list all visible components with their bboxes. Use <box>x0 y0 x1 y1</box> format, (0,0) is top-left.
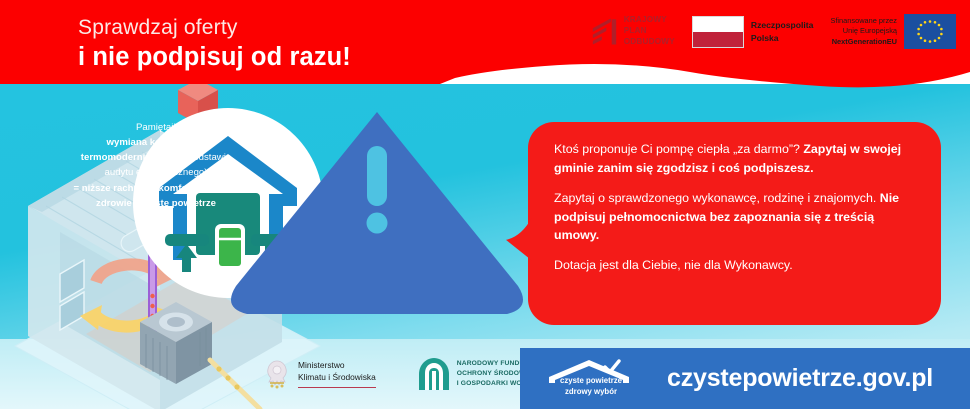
cp-logo-line-2: zdrowy wybór <box>545 387 637 398</box>
rp-line-1: Rzeczpospolita <box>751 19 814 31</box>
warning-speech-bubble: Ktoś proponuje Ci pompę ciepła „za darmo… <box>528 122 941 325</box>
bubble-p3-normal: Dotacja jest dla Ciebie, nie dla Wykonaw… <box>554 258 793 272</box>
triangle-line-1: Pamiętaj! <box>45 120 267 135</box>
nfosigw-mark-icon <box>418 357 450 391</box>
eu-stars-icon <box>904 14 956 49</box>
kpo-label: KRAJOWY PLAN ODBUDOWY <box>624 15 675 47</box>
rp-line-2: Polska <box>751 32 814 44</box>
kpo-line-1: KRAJOWY <box>624 15 675 26</box>
bubble-p1-normal: Ktoś proponuje Ci pompę ciepła „za darmo… <box>554 142 803 156</box>
logo-krajowy-plan-odbudowy: KRAJOWY PLAN ODBUDOWY <box>591 15 675 47</box>
eu-line-1: Sfinansowane przez <box>830 16 897 27</box>
bubble-paragraph-3: Dotacja jest dla Ciebie, nie dla Wykonaw… <box>554 256 914 275</box>
website-bar: czyste powietrze zdrowy wybór czystepowi… <box>520 348 970 409</box>
eu-line-2: Unię Europejską <box>830 26 897 37</box>
triangle-line-5: = niższe rachunki, komfortowy dom, <box>74 183 239 194</box>
eu-line-3: NextGenerationEU <box>830 37 897 48</box>
mkis-line-2: Klimatu i Środowiska <box>298 372 376 384</box>
bubble-tail <box>506 216 532 262</box>
kpo-line-2: PLAN <box>624 26 675 37</box>
triangle-message: Pamiętaj! wymiana kopciucha + termomoder… <box>45 120 267 211</box>
kpo-line-3: ODBUDOWY <box>624 37 675 48</box>
header-line-1: Sprawdzaj oferty <box>78 16 351 40</box>
mkis-line-1: Ministerstwo <box>298 360 376 372</box>
exclamation-mark-icon <box>367 146 388 234</box>
triangle-line-6: zdrowie i czyste powietrze <box>96 198 216 209</box>
triangle-line-4: audytu energetycznego) <box>105 167 208 178</box>
header-headline: Sprawdzaj oferty i nie podpisuj od razu! <box>78 16 351 71</box>
eu-flag-icon <box>904 14 956 49</box>
rp-label: Rzeczpospolita Polska <box>751 19 814 43</box>
top-logo-strip: KRAJOWY PLAN ODBUDOWY Rzeczpospolita Pol… <box>591 14 956 49</box>
mkis-label: Ministerstwo Klimatu i Środowiska <box>298 360 376 388</box>
bottom-logo-strip: Ministerstwo Klimatu i Środowiska NARODO… <box>262 357 542 391</box>
triangle-line-3-bold: termomodernizacja <box>81 152 169 163</box>
warning-triangle <box>222 110 532 335</box>
bubble-p2-normal: Zapytaj o sprawdzonego wykonawcę, rodzin… <box>554 191 880 205</box>
triangle-line-3-normal: (na podstawie <box>169 152 231 163</box>
triangle-line-2: wymiana kopciucha + <box>107 137 206 148</box>
polish-eagle-crest-icon <box>262 358 292 390</box>
czyste-powietrze-logo-text: czyste powietrze zdrowy wybór <box>545 376 637 397</box>
logo-european-union: Sfinansowane przez Unię Europejską NextG… <box>830 14 956 49</box>
bubble-paragraph-1: Ktoś proponuje Ci pompę ciepła „za darmo… <box>554 140 914 178</box>
bubble-paragraph-2: Zapytaj o sprawdzonego wykonawcę, rodzin… <box>554 189 914 246</box>
polish-flag-icon <box>692 16 744 48</box>
header-line-2: i nie podpisuj od razu! <box>78 43 351 72</box>
eu-label: Sfinansowane przez Unię Europejską NextG… <box>830 16 897 48</box>
logo-rzeczpospolita-polska: Rzeczpospolita Polska <box>692 16 814 48</box>
kpo-mark-icon <box>591 17 618 45</box>
website-url[interactable]: czystepowietrze.gov.pl <box>667 364 933 393</box>
warning-triangle-svg <box>222 110 532 335</box>
cp-logo-line-1: czyste powietrze <box>545 376 637 387</box>
bubble-message: Ktoś proponuje Ci pompę ciepła „za darmo… <box>554 140 914 275</box>
campaign-banner: Pamiętaj! wymiana kopciucha + termomoder… <box>0 0 970 409</box>
czyste-powietrze-logo: czyste powietrze zdrowy wybór <box>545 359 637 399</box>
logo-ministerstwo-klimatu: Ministerstwo Klimatu i Środowiska <box>262 358 376 390</box>
